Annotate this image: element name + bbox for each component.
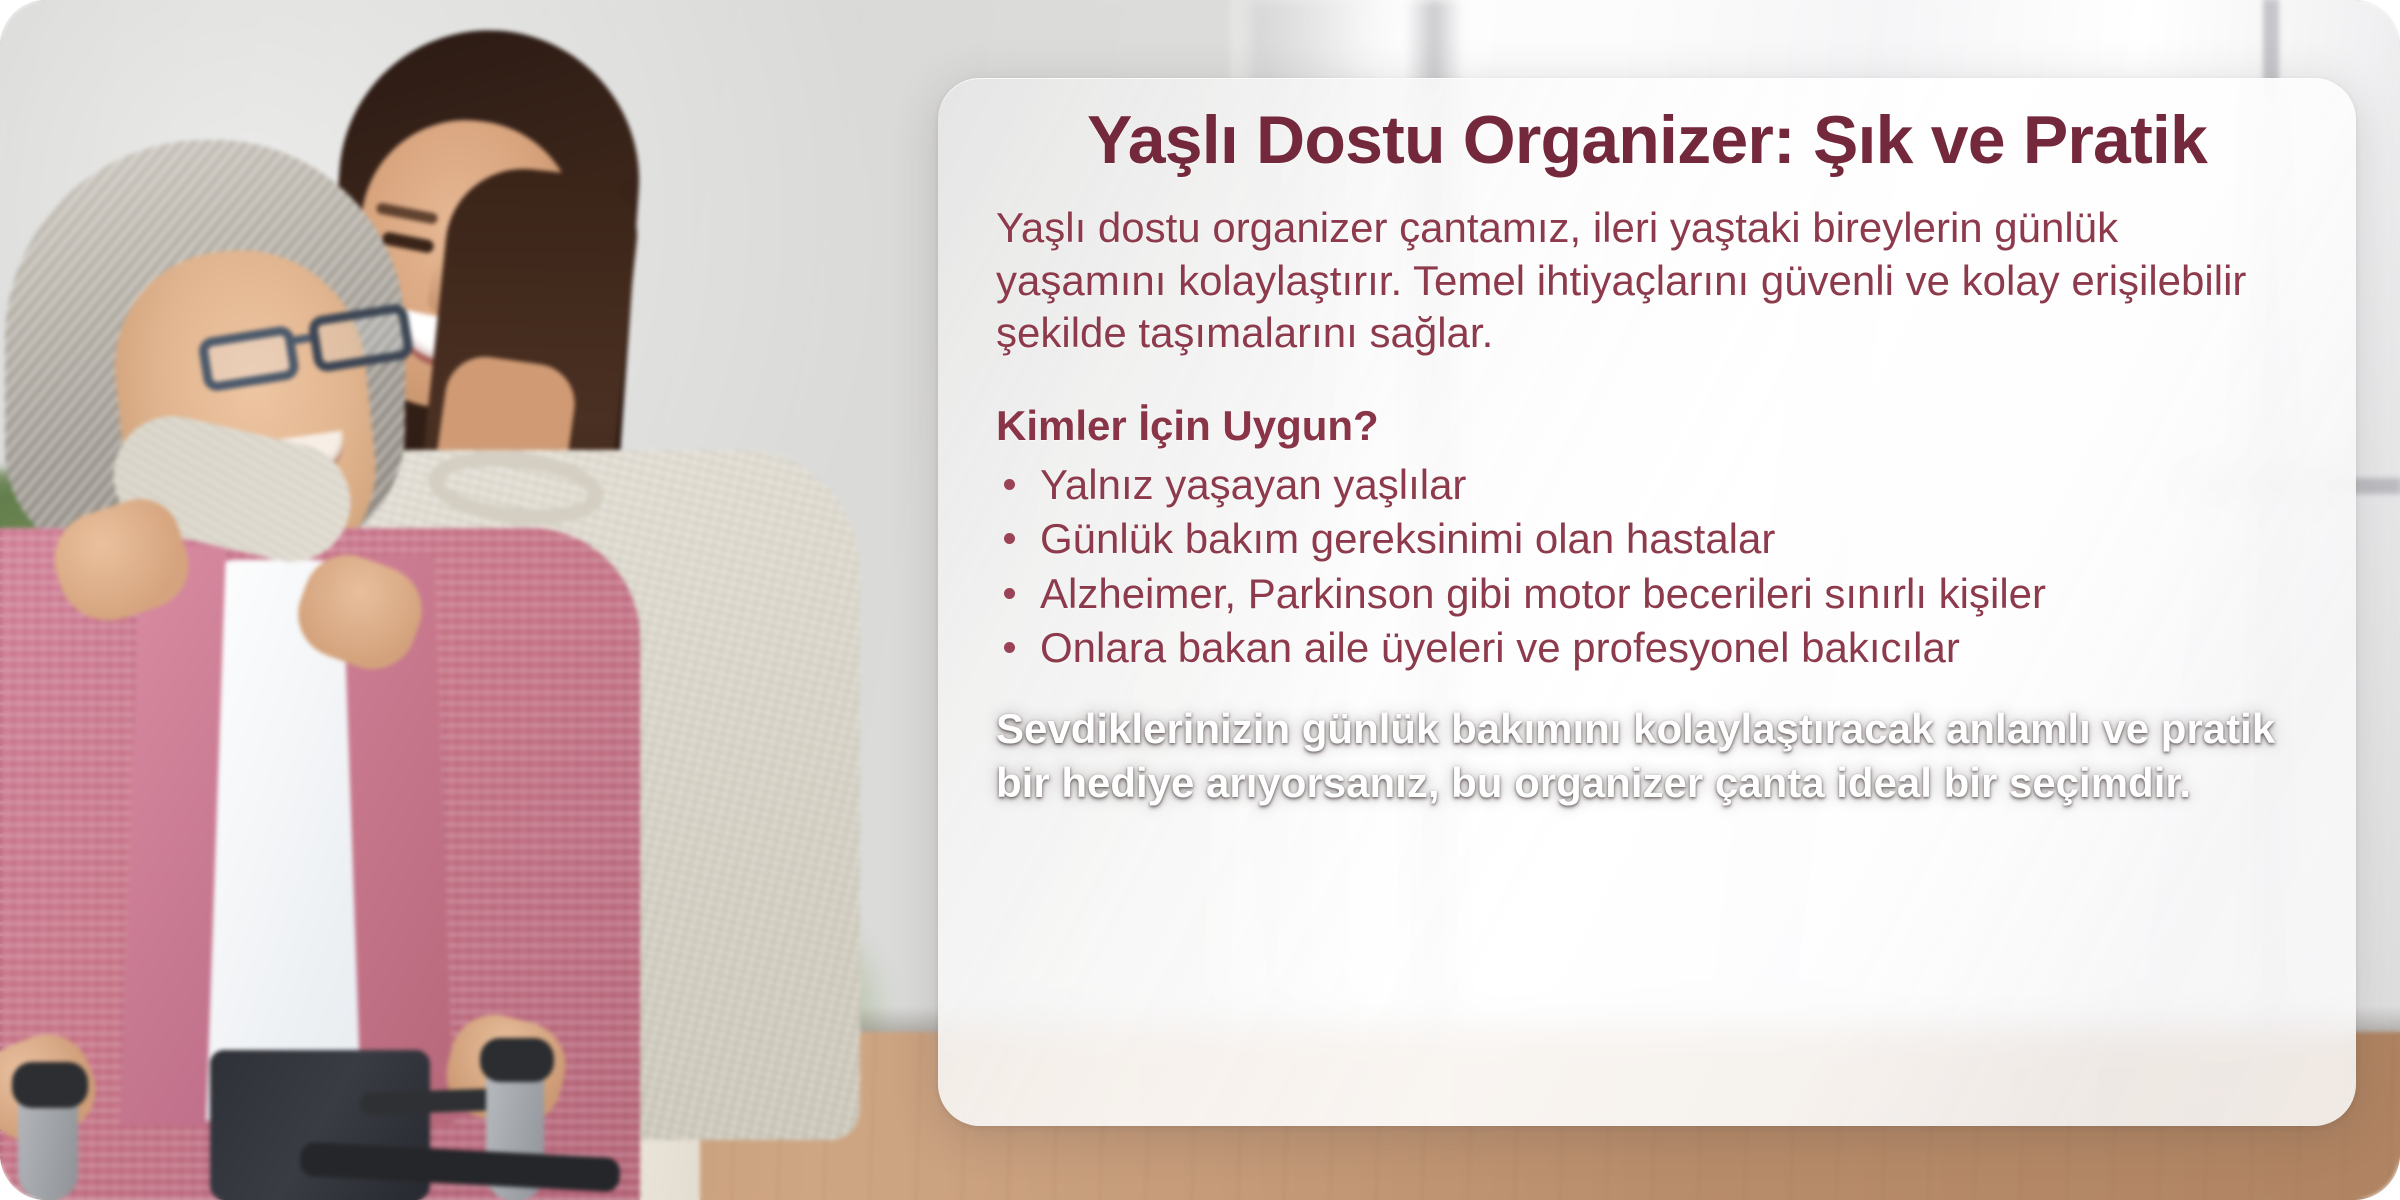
bullet-dot-icon [1004, 479, 1015, 490]
promotional-banner: Yaşlı Dostu Organizer: Şık ve Pratik Yaş… [0, 0, 2400, 1200]
list-item-label: Yalnız yaşayan yaşlılar [1040, 461, 1466, 508]
card-intro-paragraph: Yaşlı dostu organizer çantamız, ileri ya… [996, 202, 2298, 360]
card-title: Yaşlı Dostu Organizer: Şık ve Pratik [996, 104, 2298, 176]
eyeglass-lens-left [197, 325, 300, 393]
list-item: Alzheimer, Parkinson gibi motor becerile… [996, 567, 2298, 622]
walker-grip-left [12, 1062, 88, 1108]
bullet-dot-icon [1004, 642, 1015, 653]
list-item: Günlük bakım gereksinimi olan hastalar [996, 512, 2298, 567]
walker-grip-right [480, 1038, 554, 1082]
list-item: Yalnız yaşayan yaşlılar [996, 458, 2298, 513]
card-subtitle: Kimler İçin Uygun? [996, 402, 2298, 450]
audience-bullet-list: Yalnız yaşayan yaşlılar Günlük bakım ger… [996, 458, 2298, 676]
info-glass-card: Yaşlı Dostu Organizer: Şık ve Pratik Yaş… [938, 78, 2356, 1126]
bullet-dot-icon [1004, 533, 1015, 544]
list-item: Onlara bakan aile üyeleri ve profesyonel… [996, 621, 2298, 676]
list-item-label: Onlara bakan aile üyeleri ve profesyonel… [1040, 624, 1960, 671]
bullet-dot-icon [1004, 588, 1015, 599]
list-item-label: Günlük bakım gereksinimi olan hastalar [1040, 515, 1775, 562]
list-item-label: Alzheimer, Parkinson gibi motor becerile… [1040, 570, 2046, 617]
card-footer-callout: Sevdiklerinizin günlük bakımını kolaylaş… [996, 702, 2298, 810]
